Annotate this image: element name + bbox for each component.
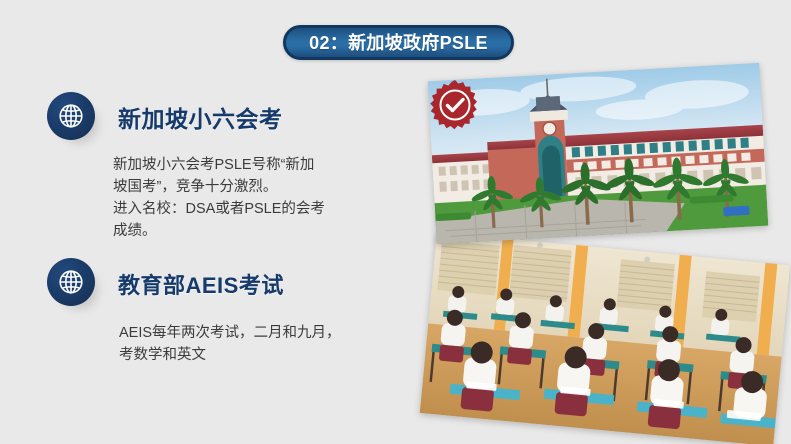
block-heading: 新加坡小六会考 xyxy=(118,100,283,134)
block-body-text: 新加坡小六会考PSLE号称“新加 坡国考”，竞争十分激烈。 进入名校：DSA或者… xyxy=(113,154,393,242)
block-heading: 教育部AEIS考试 xyxy=(118,268,284,300)
exam-hall-photo xyxy=(420,232,791,444)
globe-icon-wrapper xyxy=(47,92,95,140)
section-title-text: 02：新加坡政府PSLE xyxy=(309,34,488,52)
slide-canvas: 02：新加坡政府PSLE 新加坡小六会考 新加坡小六会考PSLE号 xyxy=(0,0,791,444)
section-title-badge: 02：新加坡政府PSLE xyxy=(283,25,514,60)
globe-icon-wrapper xyxy=(47,258,95,306)
globe-icon xyxy=(47,92,95,140)
block-body-text: AEIS每年两次考试，二月和九月， 考数学和英文 xyxy=(119,322,394,366)
globe-icon xyxy=(47,258,95,306)
verified-check-seal xyxy=(429,79,481,131)
